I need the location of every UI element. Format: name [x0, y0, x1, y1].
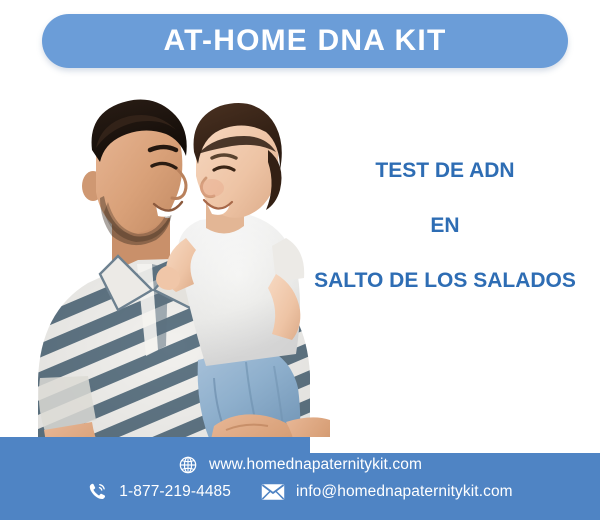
- father-and-child-photo: [0, 78, 330, 478]
- poster-canvas: AT-HOME DNA KIT: [0, 0, 600, 520]
- footer-contact-rows: www.homednapaternitykit.com 1-877-219-44…: [0, 437, 600, 520]
- location-heading-block: TEST DE ADN EN SALTO DE LOS SALADOS: [290, 160, 600, 291]
- envelope-icon: [261, 483, 285, 501]
- page-title: AT-HOME DNA KIT: [164, 26, 447, 56]
- website-contact-item[interactable]: www.homednapaternitykit.com: [178, 455, 422, 475]
- heading-line-test-de-adn: TEST DE ADN: [290, 160, 600, 181]
- footer-row-phone-email: 1-877-219-4485 info@homednapaternitykit.…: [87, 481, 512, 502]
- phone-label: 1-877-219-4485: [119, 484, 231, 500]
- heading-line-en: EN: [290, 215, 600, 236]
- email-label: info@homednapaternitykit.com: [296, 484, 513, 500]
- website-label: www.homednapaternitykit.com: [209, 457, 422, 473]
- phone-icon: [87, 481, 108, 502]
- globe-icon: [178, 455, 198, 475]
- phone-contact-item[interactable]: 1-877-219-4485: [87, 481, 231, 502]
- email-contact-item[interactable]: info@homednapaternitykit.com: [261, 483, 513, 501]
- header-banner: AT-HOME DNA KIT: [42, 14, 568, 68]
- footer-row-website: www.homednapaternitykit.com: [178, 455, 422, 475]
- heading-line-location: SALTO DE LOS SALADOS: [290, 270, 600, 291]
